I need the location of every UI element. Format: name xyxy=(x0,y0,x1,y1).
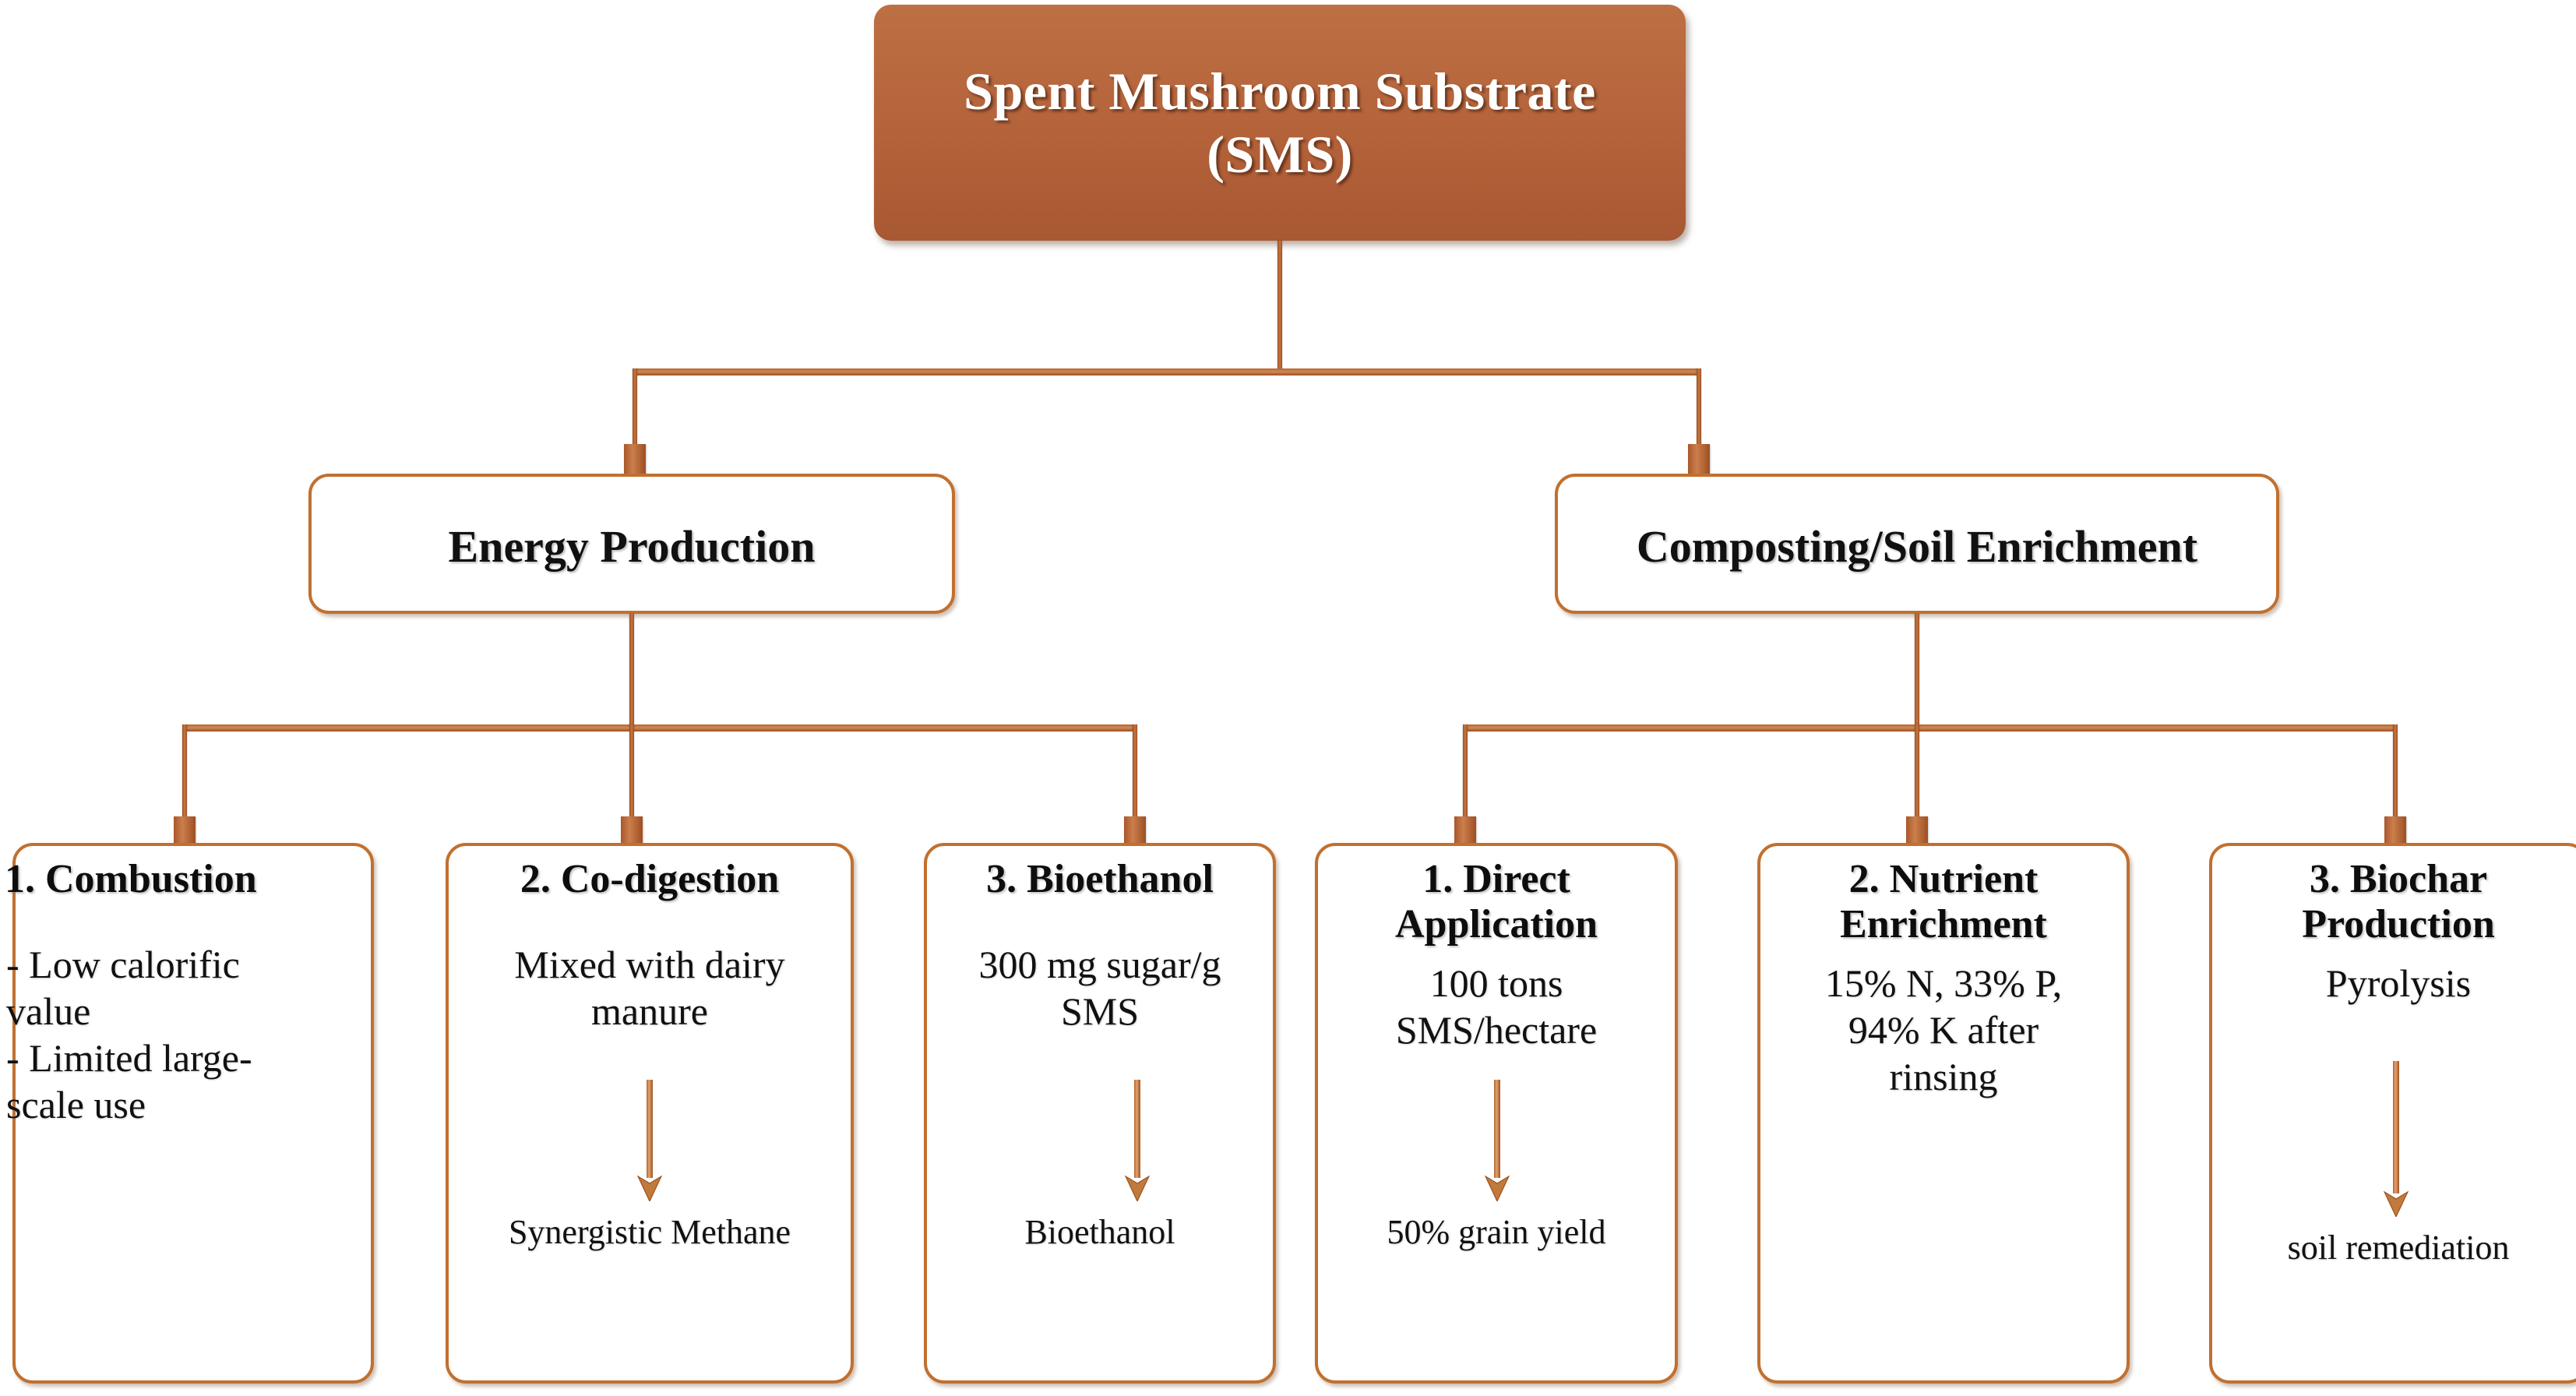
diagram-canvas: Spent Mushroom Substrate (SMS) Energy Pr… xyxy=(0,0,2576,1396)
leaf-nutrient-enrichment-line3: rinsing xyxy=(1750,1053,2137,1100)
connector-energy-bus xyxy=(182,724,1137,731)
node-leaf-biochar-production[interactable]: 3. Biochar Production Pyrolysis soil rem… xyxy=(2209,843,2576,1384)
leaf-co-digestion-content: 2. Co-digestion Mixed with dairy manure xyxy=(438,857,862,1035)
arrow-down-icon-direct-application xyxy=(1482,1080,1513,1204)
leaf-co-digestion-line1: Mixed with dairy xyxy=(438,941,862,988)
leaf-direct-application-content: 1. Direct Application 100 tons SMS/hecta… xyxy=(1307,857,1686,1053)
connector-level1-bus xyxy=(633,368,1701,375)
leaf-nutrient-enrichment-line1: 15% N, 33% P, xyxy=(1750,960,2137,1006)
node-root-sms[interactable]: Spent Mushroom Substrate (SMS) xyxy=(874,5,1686,241)
connector-composting-down xyxy=(1915,614,1919,729)
leaf-biochar-production-title: 3. Biochar Production xyxy=(2201,857,2576,947)
leaf-nutrient-enrichment-title: 2. Nutrient Enrichment xyxy=(1750,857,2137,947)
leaf-biochar-production-output-wrap: soil remediation xyxy=(2195,1228,2576,1268)
branch-label-composting-soil-enrichment: Composting/Soil Enrichment xyxy=(1558,520,2276,573)
leaf-direct-application-line2: SMS/hectare xyxy=(1307,1006,1686,1053)
leaf-biochar-production-content: 3. Biochar Production Pyrolysis xyxy=(2201,857,2576,1006)
leaf-co-digestion-title: 2. Co-digestion xyxy=(438,857,862,902)
leaf-co-digestion-output: Synergistic Methane xyxy=(436,1212,863,1253)
leaf-combustion-line3: - Limited large- xyxy=(5,1035,382,1081)
leaf-biochar-production-line1: Pyrolysis xyxy=(2201,960,2576,1006)
leaf-combustion-content: 1. Combustion - Low calorific value - Li… xyxy=(5,857,382,1128)
leaf-biochar-production-output: soil remediation xyxy=(2195,1228,2576,1268)
leaf-bioethanol-output-wrap: Bioethanol xyxy=(914,1212,1285,1253)
leaf-bioethanol-title: 3. Bioethanol xyxy=(916,857,1284,902)
connector-energy-down xyxy=(629,614,634,729)
arrow-down-icon-co-digestion xyxy=(634,1080,665,1204)
leaf-combustion-title: 1. Combustion xyxy=(5,857,382,902)
connector-root-down xyxy=(1277,241,1282,373)
leaf-co-digestion-line2: manure xyxy=(438,988,862,1035)
leaf-nutrient-enrichment-line2: 94% K after xyxy=(1750,1006,2137,1053)
root-title: Spent Mushroom Substrate (SMS) xyxy=(964,60,1596,185)
leaf-bioethanol-content: 3. Bioethanol 300 mg sugar/g SMS xyxy=(916,857,1284,1035)
node-leaf-direct-application[interactable]: 1. Direct Application 100 tons SMS/hecta… xyxy=(1315,843,1678,1384)
node-leaf-combustion[interactable]: 1. Combustion - Low calorific value - Li… xyxy=(12,843,374,1384)
leaf-co-digestion-output-wrap: Synergistic Methane xyxy=(436,1212,863,1253)
leaf-combustion-line2: value xyxy=(5,988,382,1035)
leaf-direct-application-output-wrap: 50% grain yield xyxy=(1306,1212,1687,1253)
arrow-down-icon-bioethanol xyxy=(1122,1080,1153,1204)
root-title-line1: Spent Mushroom Substrate xyxy=(964,62,1596,121)
leaf-combustion-line1: - Low calorific xyxy=(5,941,382,988)
arrow-down-icon-biochar-production xyxy=(2380,1061,2412,1217)
leaf-direct-application-line1: 100 tons xyxy=(1307,960,1686,1006)
node-leaf-nutrient-enrichment[interactable]: 2. Nutrient Enrichment 15% N, 33% P, 94%… xyxy=(1757,843,2130,1384)
connector-composting-bus xyxy=(1463,724,2398,731)
node-leaf-co-digestion[interactable]: 2. Co-digestion Mixed with dairy manure … xyxy=(446,843,854,1384)
node-leaf-bioethanol[interactable]: 3. Bioethanol 300 mg sugar/g SMS Bioetha… xyxy=(924,843,1276,1384)
leaf-bioethanol-line1: 300 mg sugar/g xyxy=(916,941,1284,988)
root-title-line2: (SMS) xyxy=(1207,125,1353,184)
node-branch-energy-production[interactable]: Energy Production xyxy=(308,474,955,614)
leaf-combustion-line4: scale use xyxy=(5,1081,382,1128)
leaf-nutrient-enrichment-content: 2. Nutrient Enrichment 15% N, 33% P, 94%… xyxy=(1750,857,2137,1100)
branch-label-energy-production: Energy Production xyxy=(312,520,952,573)
node-branch-composting-soil-enrichment[interactable]: Composting/Soil Enrichment xyxy=(1555,474,2279,614)
leaf-direct-application-title: 1. Direct Application xyxy=(1307,857,1686,947)
leaf-direct-application-output: 50% grain yield xyxy=(1306,1212,1687,1253)
leaf-bioethanol-line2: SMS xyxy=(916,988,1284,1035)
leaf-bioethanol-output: Bioethanol xyxy=(914,1212,1285,1253)
